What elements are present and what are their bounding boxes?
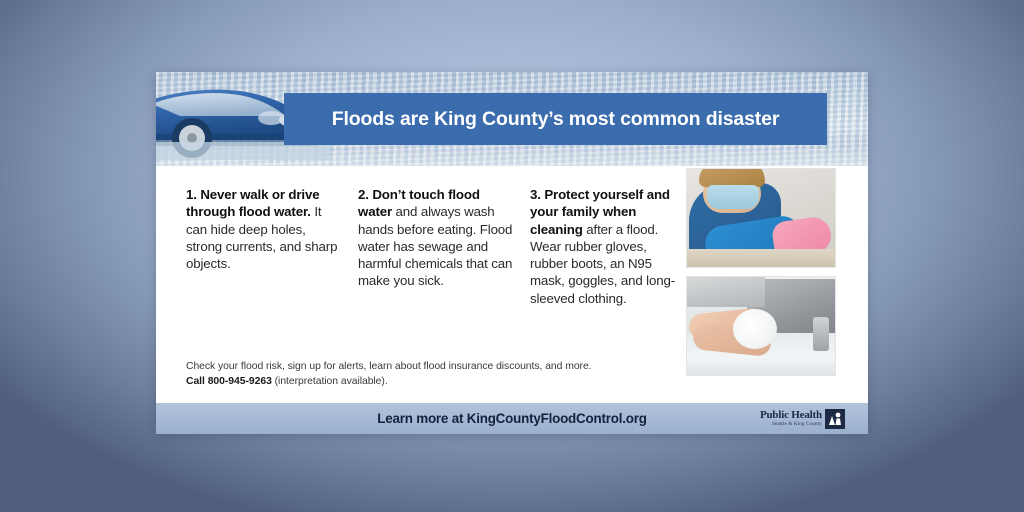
tip-column-3: 3. Protect yourself and your family when… xyxy=(530,186,686,307)
tip-lead-1: 1. Never walk or drive through flood wat… xyxy=(186,187,319,219)
learn-more-url[interactable]: Learn more at KingCountyFloodControl.org xyxy=(377,411,646,426)
public-health-mark-icon xyxy=(825,409,845,429)
gloves-photo xyxy=(686,168,836,268)
poster-title-banner: Floods are King County’s most common dis… xyxy=(284,93,827,145)
flood-safety-poster: Floods are King County’s most common dis… xyxy=(156,72,868,434)
poster-header: Floods are King County’s most common dis… xyxy=(156,72,868,166)
page-title: Floods are King County’s most common dis… xyxy=(332,108,780,131)
tip-column-2: 2. Don’t touch flood water and always wa… xyxy=(358,186,514,307)
face-mask-shape xyxy=(707,185,759,209)
tip-text-1: 1. Never walk or drive through flood wat… xyxy=(186,186,342,272)
handwash-photo-inner xyxy=(687,277,835,375)
drainboard-shape xyxy=(687,277,765,307)
gloves-photo-inner xyxy=(687,169,835,267)
soap-foam-shape xyxy=(733,309,777,349)
public-health-logo: Public Health Seattle & King County xyxy=(760,406,856,432)
footnote: Check your flood risk, sign up for alert… xyxy=(186,360,686,390)
footnote-line1: Check your flood risk, sign up for alert… xyxy=(186,361,592,372)
tip-text-2: 2. Don’t touch flood water and always wa… xyxy=(358,186,514,290)
footnote-suffix: (interpretation available). xyxy=(272,376,388,387)
logo-subtitle: Seattle & King County xyxy=(760,422,822,427)
poster-body: 1. Never walk or drive through flood wat… xyxy=(156,166,868,402)
public-health-logo-text: Public Health Seattle & King County xyxy=(760,410,822,427)
phone-number: Call 800-945-9263 xyxy=(186,376,272,387)
counter-shape xyxy=(687,249,835,267)
handwash-photo xyxy=(686,276,836,376)
logo-title: Public Health xyxy=(760,410,822,421)
tips-columns: 1. Never walk or drive through flood wat… xyxy=(186,186,686,307)
faucet-shape xyxy=(813,317,829,351)
poster-bottom-bar: Learn more at KingCountyFloodControl.org… xyxy=(156,402,868,434)
tip-column-1: 1. Never walk or drive through flood wat… xyxy=(186,186,342,307)
tip-text-3: 3. Protect yourself and your family when… xyxy=(530,186,686,307)
